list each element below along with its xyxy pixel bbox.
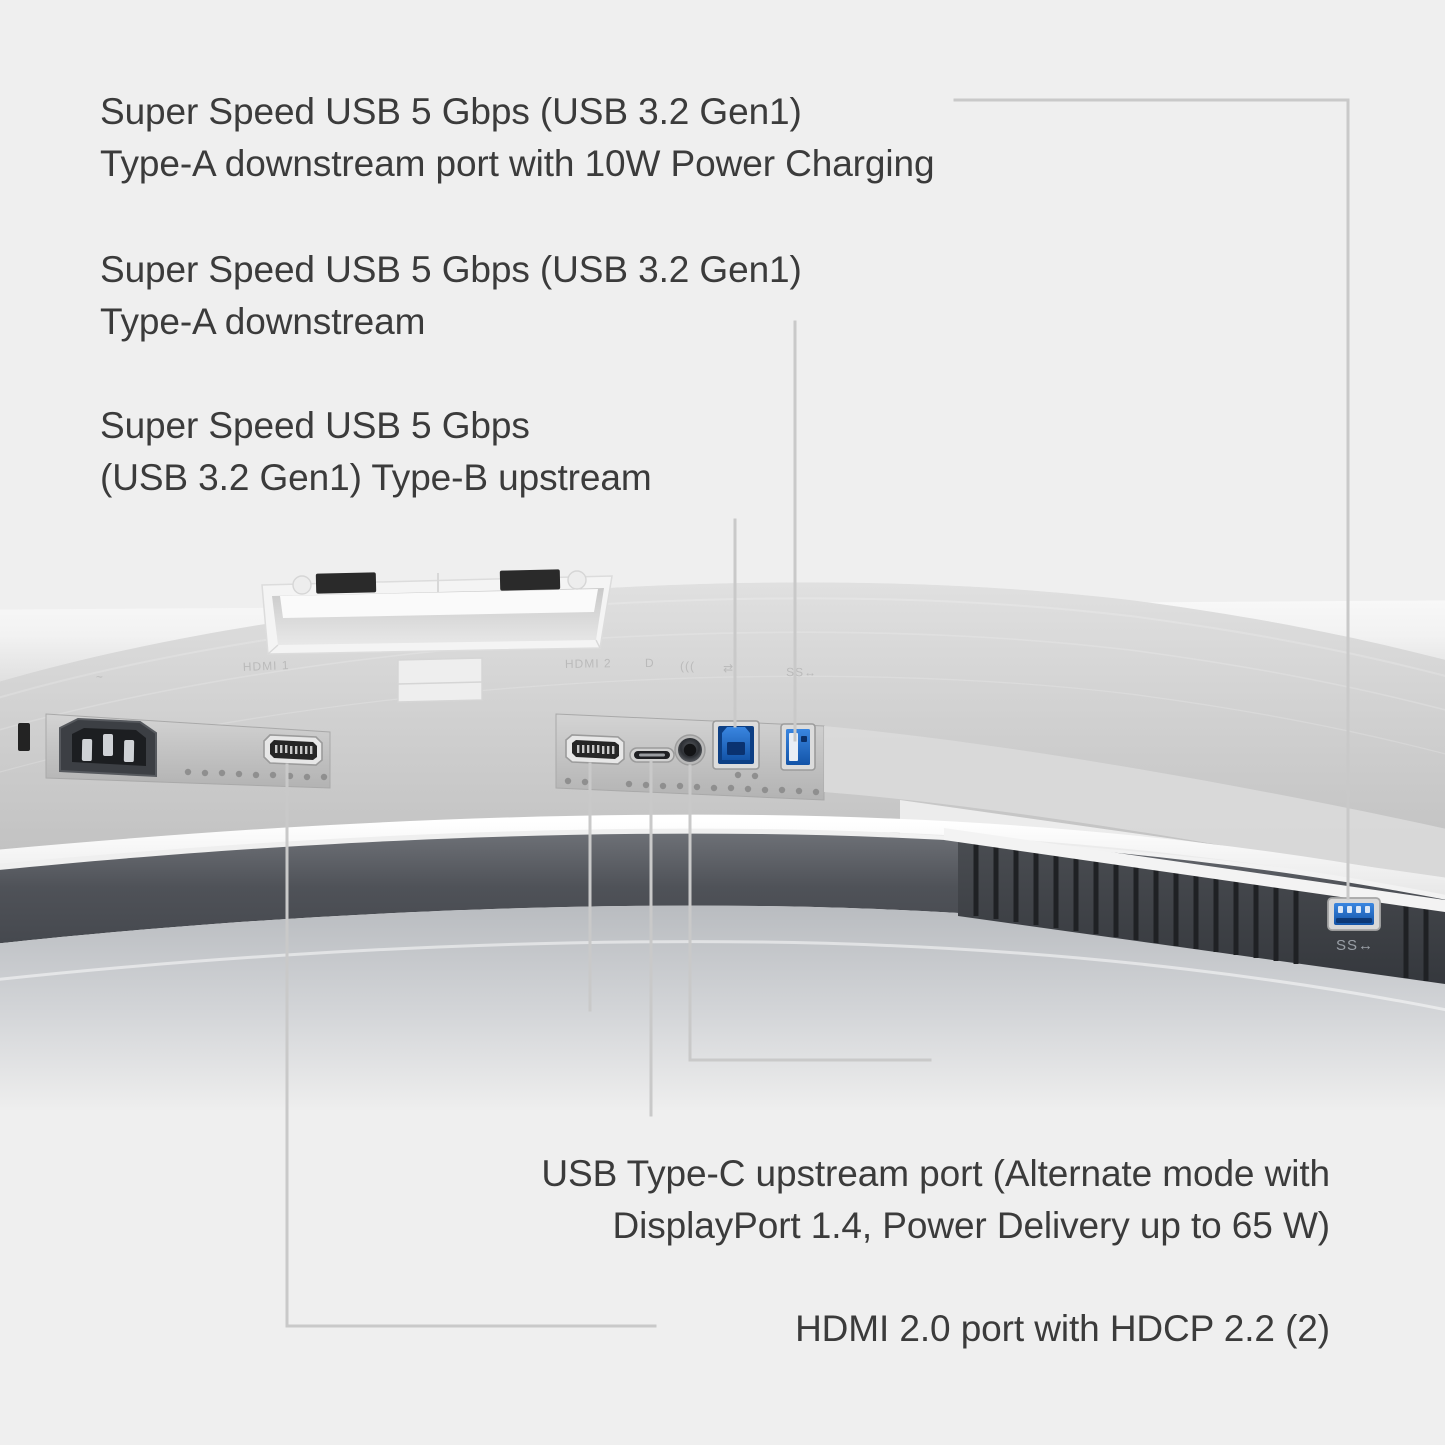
callout-leader-lines bbox=[0, 0, 1445, 1445]
leader-audio-line-out bbox=[690, 766, 930, 1060]
leader-usb-a-charging bbox=[955, 100, 1348, 898]
leader-hdmi-1 bbox=[287, 765, 655, 1326]
